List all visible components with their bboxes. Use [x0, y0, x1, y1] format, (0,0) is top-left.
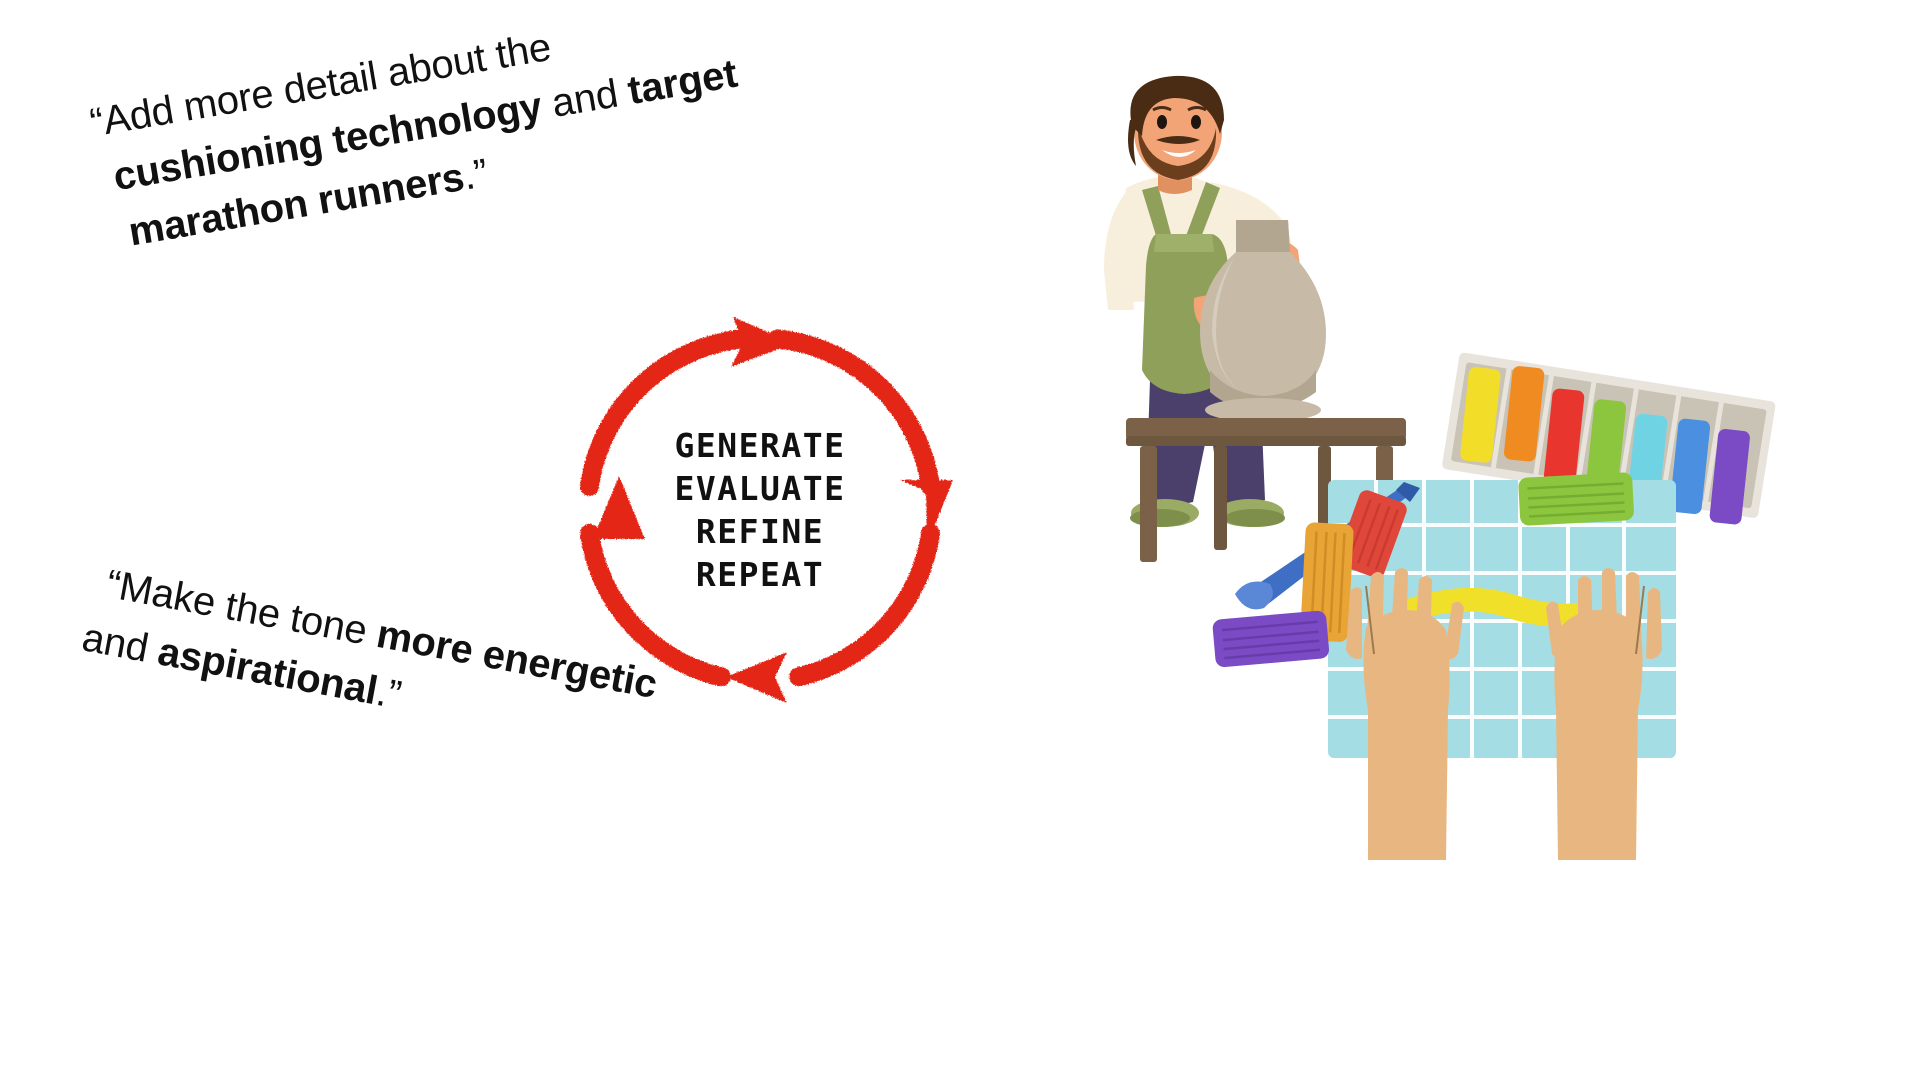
cycle-word-generate: GENERATE: [675, 429, 846, 462]
potter-eye-left: [1157, 115, 1167, 129]
slide-canvas: “Add more detail about the cushioning te…: [0, 0, 1920, 1080]
potter-apron-bib: [1154, 234, 1214, 252]
cycle-diagram: GENERATE EVALUATE REFINE REPEAT: [555, 305, 965, 715]
potter-shoe-left-sole: [1130, 509, 1190, 527]
quote-top-line-2-seg-3: target: [625, 51, 741, 113]
clay-bar-green: [1518, 472, 1634, 526]
cycle-word-refine: REFINE: [696, 515, 824, 548]
cycle-word-evaluate: EVALUATE: [675, 472, 846, 505]
table-top-edge: [1126, 436, 1406, 446]
quote-bottom-line-2-seg-1: and: [79, 615, 163, 672]
clay-vase-neck: [1236, 220, 1290, 252]
right-finger-1: [1646, 588, 1662, 659]
pottery-illustration: [1060, 70, 1860, 860]
table-leg-front-left: [1140, 446, 1157, 562]
clay-tool-blade: [1235, 582, 1273, 610]
clay-bar-purple: [1212, 610, 1330, 668]
cycle-word-repeat: REPEAT: [696, 558, 824, 591]
potter-shoe-right-sole: [1225, 509, 1285, 527]
cycle-word-stack: GENERATE EVALUATE REFINE REPEAT: [555, 305, 965, 715]
table-leg-back-left: [1214, 446, 1227, 550]
potter-eye-right: [1191, 115, 1201, 129]
quote-top-line-2-seg-2: and: [538, 70, 632, 128]
quote-top: “Add more detail about the cushioning te…: [86, 0, 751, 264]
pottery-illustration-svg: [1060, 70, 1860, 860]
